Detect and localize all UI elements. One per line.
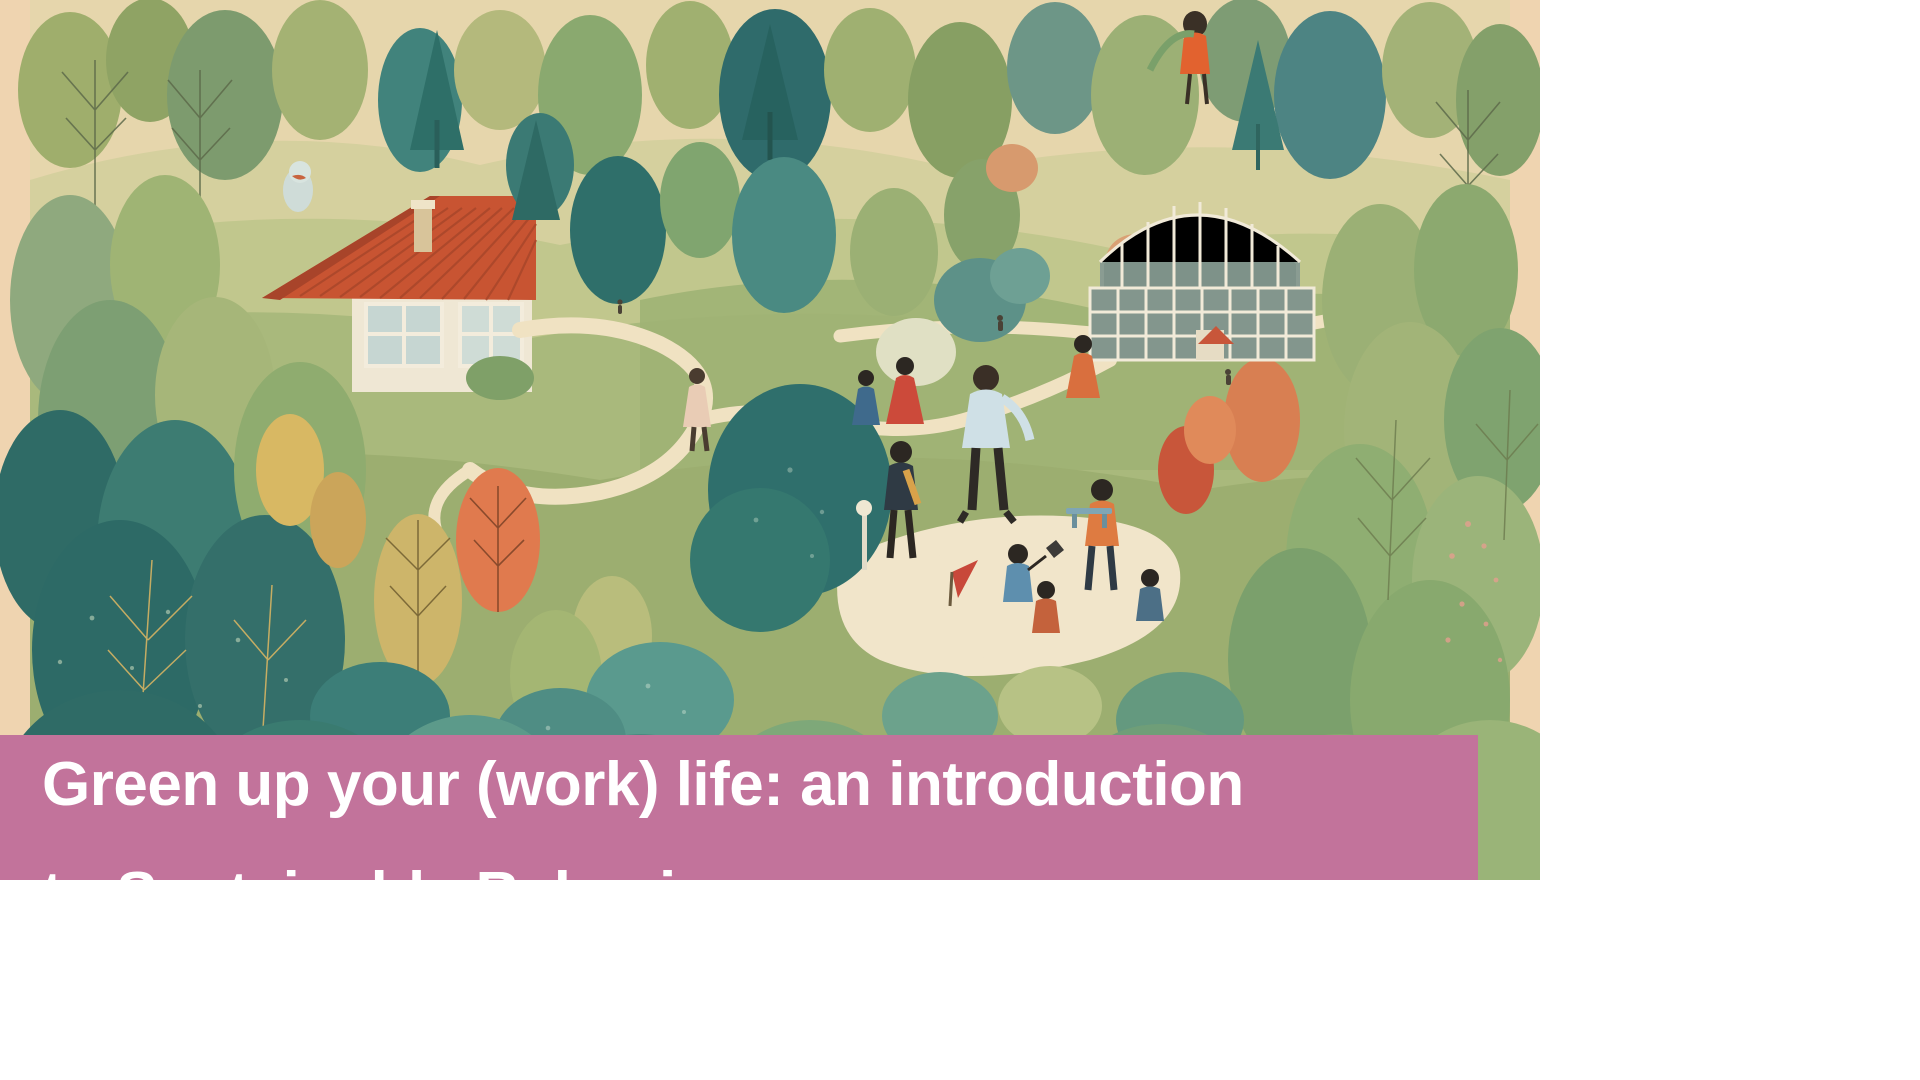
slide-canvas: Green up your (work) life: an introducti…	[0, 0, 1540, 880]
title-banner: Green up your (work) life: an introducti…	[0, 735, 1478, 880]
page-title: Green up your (work) life: an introducti…	[42, 730, 1452, 880]
